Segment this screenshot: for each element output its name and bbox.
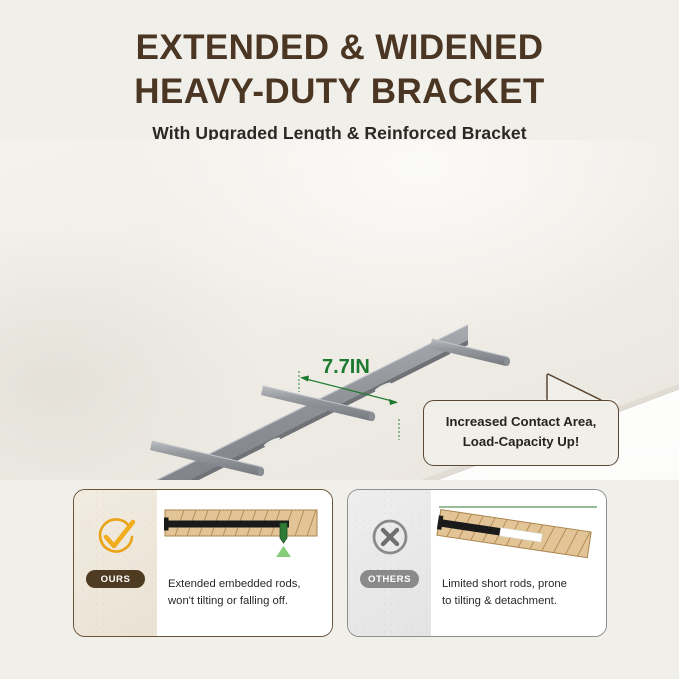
heading-block: EXTENDED & WIDENED HEAVY-DUTY BRACKET Wi… [0, 26, 679, 144]
comparison-panels: OURS [0, 489, 679, 639]
others-caption-line-2: to tilting & detachment. [442, 593, 600, 610]
ours-rod-diagram [157, 496, 333, 574]
comparison-panel-others: OTHERS [347, 489, 607, 637]
callout-tail-icon [543, 369, 619, 403]
dimension-label-text: 7.7IN [322, 356, 370, 378]
callout-bubble: Increased Contact Area, Load-Capacity Up… [423, 400, 619, 466]
callout-line-2: Load-Capacity Up! [434, 432, 608, 452]
headline-line-2: HEAVY-DUTY BRACKET [0, 70, 679, 114]
ours-badge-column: OURS [74, 490, 157, 636]
product-infographic: EXTENDED & WIDENED HEAVY-DUTY BRACKET Wi… [0, 0, 679, 679]
others-badge-column: OTHERS [348, 490, 431, 636]
others-panel-body: Limited short rods, prone to tilting & d… [431, 490, 606, 636]
ours-panel-body: Extended embedded rods, won't tilting or… [157, 490, 332, 636]
ours-badge: OURS [86, 570, 145, 588]
ours-badge-label: OURS [101, 574, 131, 585]
ours-caption: Extended embedded rods, won't tilting or… [168, 576, 326, 609]
ours-caption-line-2: won't tilting or falling off. [168, 593, 326, 610]
comparison-panel-ours: OURS [73, 489, 333, 637]
headline-line-1: EXTENDED & WIDENED [136, 28, 544, 67]
others-caption: Limited short rods, prone to tilting & d… [442, 576, 600, 609]
x-circle-icon [368, 515, 412, 559]
ours-caption-line-1: Extended embedded rods, [168, 576, 326, 593]
others-caption-line-1: Limited short rods, prone [442, 576, 600, 593]
others-badge-label: OTHERS [368, 574, 411, 585]
check-circle-icon [94, 515, 138, 559]
others-rod-diagram [431, 496, 607, 574]
page-title: EXTENDED & WIDENED HEAVY-DUTY BRACKET [0, 26, 679, 114]
callout-line-1: Increased Contact Area, [434, 412, 608, 432]
others-badge: OTHERS [360, 570, 419, 588]
